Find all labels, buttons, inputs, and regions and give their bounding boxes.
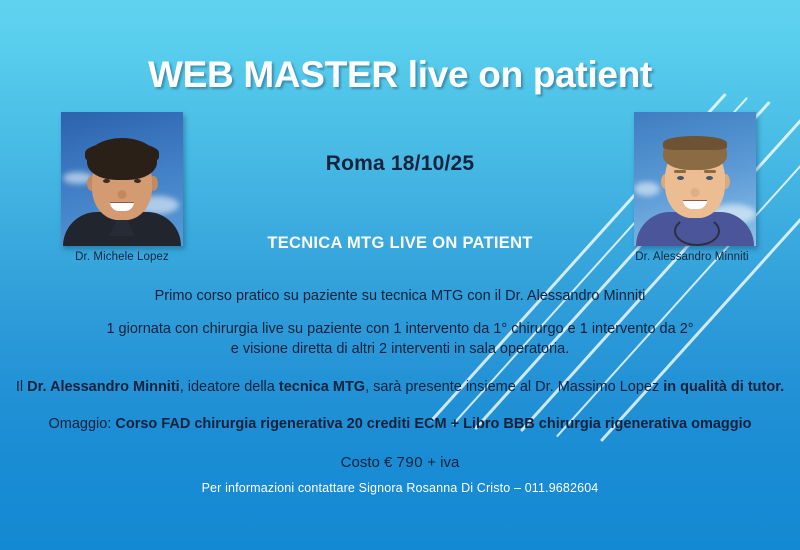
cloud-shape (634, 182, 660, 196)
body-line-4: Omaggio: Corso FAD chirurgia rigenerativ… (0, 414, 800, 434)
page-title: WEB MASTER live on patient (0, 54, 800, 96)
body-line-2b: e visione diretta di altri 2 interventi … (0, 339, 800, 359)
eye-shape (134, 179, 141, 183)
price-label: Costo € (341, 454, 393, 471)
body-line-3: Il Dr. Alessandro Minniti, ideatore dell… (0, 377, 800, 397)
section-subtitle: TECNICA MTG LIVE ON PATIENT (0, 234, 800, 253)
portrait-michele-lopez (61, 112, 183, 246)
line3-bold-minniti: Dr. Alessandro Minniti (27, 379, 180, 395)
eye-shape (103, 179, 110, 183)
line4-bold-omaggio: Corso FAD chirurgia rigenerativa 20 cred… (115, 416, 751, 432)
line4-pre: Omaggio: (48, 416, 115, 432)
line3-bold-tecnica: tecnica MTG (279, 379, 365, 395)
eye-shape (706, 176, 713, 180)
poster-root: WEB MASTER live on patient Roma 18/10/25 (0, 0, 800, 550)
price-amount: 790 (397, 454, 424, 471)
hair-shape (663, 136, 727, 150)
eyebrow-shape (674, 170, 686, 173)
price-suffix: + iva (427, 454, 459, 471)
line3-mid2: , sarà presente insieme al Dr. Massimo L… (365, 379, 663, 395)
eyebrow-shape (131, 173, 143, 176)
eyebrow-shape (704, 170, 716, 173)
body-line-2: 1 giornata con chirurgia live su pazient… (0, 319, 800, 359)
eye-shape (677, 176, 684, 180)
nose-shape (118, 190, 127, 199)
line3-bold-tutor: in qualità di tutor. (663, 379, 784, 395)
body-text-block: Primo corso pratico su paziente su tecni… (0, 286, 800, 474)
eyebrow-shape (100, 173, 112, 176)
body-line-1-text: Primo corso pratico su paziente su tecni… (155, 288, 646, 304)
line3-mid1: , ideatore della (180, 379, 279, 395)
body-line-price: Costo € 790 + iva (0, 453, 800, 474)
portrait-alessandro-minniti (634, 112, 756, 246)
nose-shape (691, 188, 700, 197)
body-line-2b-text: e visione diretta di altri 2 interventi … (231, 341, 570, 357)
body-line-2a-text: 1 giornata con chirurgia live su pazient… (106, 321, 693, 337)
hair-shape (85, 142, 159, 164)
body-line-1: Primo corso pratico su paziente su tecni… (0, 286, 800, 306)
line3-pre: Il (16, 379, 27, 395)
body-line-2a: 1 giornata con chirurgia live su pazient… (0, 319, 800, 339)
contact-footer: Per informazioni contattare Signora Rosa… (0, 481, 800, 495)
